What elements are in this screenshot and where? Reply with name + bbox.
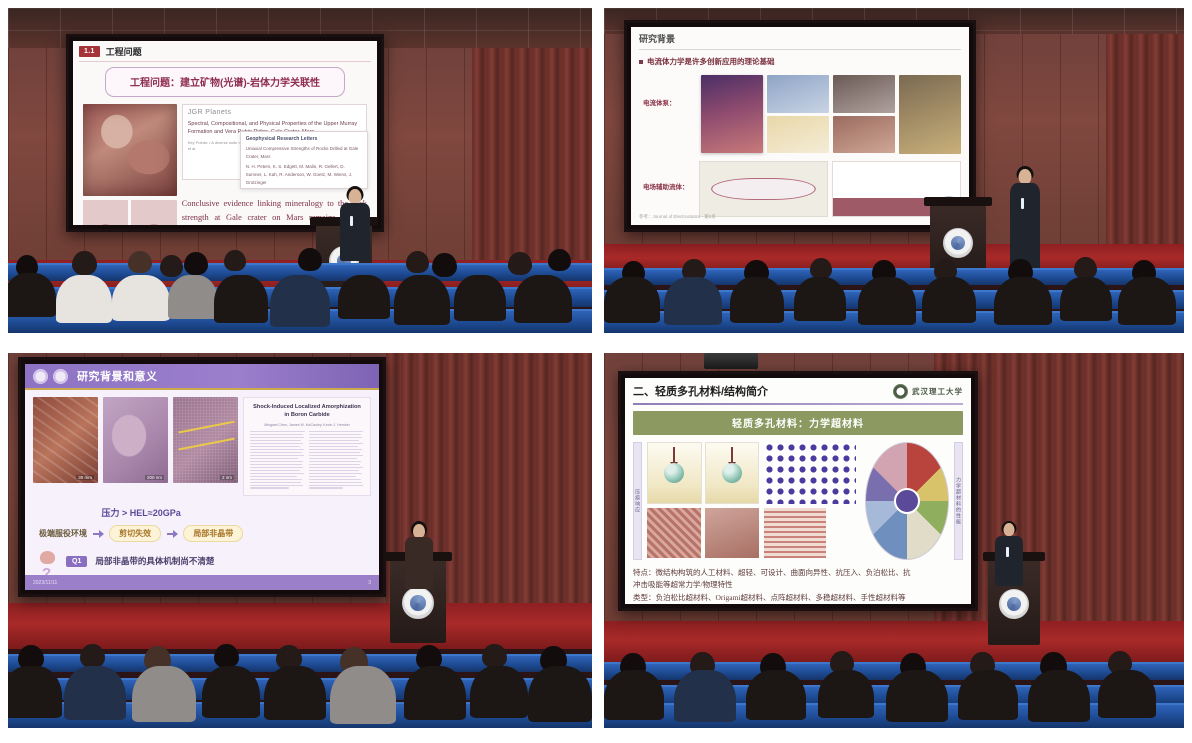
slide3-micrographs: 30 mm 200 nm 2 nm bbox=[33, 397, 238, 496]
bullet-square-icon bbox=[639, 60, 643, 64]
auditorium-scene: 研究背景 电流体力学是许多创新应用的理论基础 电流体泵： bbox=[604, 8, 1184, 333]
scale-bar-label: 30 mm bbox=[76, 475, 94, 480]
panel-top-left: 1.1 工程问题 工程问题：建立矿物(光谱)-岩体力学关联性 bbox=[0, 0, 592, 333]
audience-head bbox=[72, 251, 97, 275]
slide4-header: 二、轻质多孔材料/结构简介 武汉理工大学 bbox=[633, 383, 963, 399]
reference-paper-card: Shock-Induced Localized Amorphization in… bbox=[243, 397, 371, 496]
audience-body bbox=[264, 666, 326, 720]
audience-head bbox=[160, 255, 183, 277]
audience-body bbox=[730, 277, 784, 323]
slide2-title: 研究背景 bbox=[639, 32, 961, 45]
journal2-name: Geophysical Research Letters bbox=[246, 136, 362, 142]
audience bbox=[604, 636, 1184, 728]
university-name: 武汉理工大学 bbox=[912, 386, 963, 397]
slide4-divider bbox=[633, 403, 963, 405]
paper-card-grl: Geophysical Research Letters Uniaxial Co… bbox=[240, 131, 368, 189]
indenter-sphere bbox=[722, 463, 742, 483]
projection-screen: 研究背景和意义 30 mm 200 nm bbox=[18, 357, 386, 597]
flow-arrow-icon bbox=[167, 533, 177, 534]
audience bbox=[604, 247, 1184, 333]
paper-text-column bbox=[309, 431, 364, 491]
device-photo bbox=[767, 116, 829, 153]
ceiling-projector bbox=[704, 353, 758, 369]
presenter-torso bbox=[995, 536, 1023, 586]
audience-body bbox=[8, 666, 62, 718]
audience bbox=[8, 237, 592, 333]
slide4-lattice-column bbox=[764, 442, 856, 560]
audience-body bbox=[886, 670, 948, 722]
indenter-sphere bbox=[664, 463, 684, 483]
lattice-sample-photo bbox=[647, 508, 701, 558]
flow-node-3: 局部非晶带 bbox=[183, 525, 243, 542]
slide3-header: 研究背景和意义 bbox=[25, 364, 379, 390]
scale-bar-label: 2 nm bbox=[220, 475, 234, 480]
slide3-footer: 2023/11/11 3 bbox=[25, 575, 379, 590]
audience-body bbox=[514, 275, 572, 323]
micrograph-c: 2 nm bbox=[173, 397, 238, 483]
audience-body bbox=[330, 666, 396, 724]
presenter-torso bbox=[405, 537, 433, 589]
lab-logo-icon bbox=[53, 369, 68, 384]
slide2-photo-stack bbox=[833, 75, 895, 154]
slide-porous-materials: 二、轻质多孔材料/结构简介 武汉理工大学 轻质多孔材料：力学超材料 bbox=[625, 378, 971, 604]
audience-body bbox=[338, 275, 390, 319]
drill-hole-micrographs bbox=[83, 200, 177, 225]
origami-sample-photo bbox=[705, 508, 759, 558]
university-branding: 武汉理工大学 bbox=[893, 384, 963, 399]
slide4-banner: 轻质多孔材料：力学超材料 bbox=[633, 411, 963, 435]
slide2-bullet-text: 电流体力学是许多创新应用的理论基础 bbox=[647, 56, 775, 67]
slide3-title: 研究背景和意义 bbox=[77, 368, 158, 384]
panel-bottom-left: 研究背景和意义 30 mm 200 nm bbox=[0, 333, 592, 743]
audience-body bbox=[132, 666, 196, 722]
audience-body bbox=[168, 275, 218, 319]
scale-bar-label: 200 nm bbox=[145, 475, 164, 480]
presenter-head bbox=[1019, 169, 1032, 184]
flow-arrow-icon bbox=[93, 533, 103, 534]
slide1-image-column bbox=[83, 104, 177, 225]
audience-head bbox=[482, 644, 507, 668]
slide2-images-1 bbox=[701, 75, 961, 154]
audience-body bbox=[858, 277, 916, 325]
audience-body bbox=[674, 670, 736, 722]
audience bbox=[8, 624, 592, 728]
reference-paper-authors: Mingwei Chen, James W. McCauley, Kevin J… bbox=[250, 423, 364, 427]
question-tag: Q1 bbox=[66, 556, 87, 567]
audience-body bbox=[470, 666, 528, 718]
kirigami-sample-photo bbox=[764, 508, 826, 558]
indentation-negative bbox=[705, 442, 760, 504]
audience-body bbox=[394, 275, 450, 325]
amorphous-band-marker bbox=[179, 421, 236, 434]
audience-head bbox=[214, 644, 239, 668]
presenter bbox=[994, 521, 1024, 591]
audience-body bbox=[604, 670, 664, 720]
presenter-head bbox=[413, 524, 425, 538]
audience-body bbox=[922, 277, 976, 323]
micrograph-a: 30 mm bbox=[33, 397, 98, 483]
audience-body bbox=[818, 670, 874, 718]
slide4-side-label-left: 压痕响应 bbox=[633, 442, 642, 560]
slide3-body: 30 mm 200 nm 2 nm bbox=[25, 390, 379, 590]
slide2-footnote: 参考：Journal of Electrostatics · 第3页 bbox=[639, 214, 716, 220]
slide3-page-number: 3 bbox=[368, 580, 371, 586]
audience-head bbox=[508, 252, 532, 275]
experiment-photo bbox=[833, 75, 895, 113]
journal-name: JGR Planets bbox=[188, 109, 361, 116]
slide2-divider bbox=[639, 49, 961, 50]
audience-head bbox=[128, 251, 152, 273]
reentrant-lattice-diagram bbox=[764, 442, 856, 504]
slide4-title: 二、轻质多孔材料/结构简介 bbox=[633, 383, 768, 399]
load-arrow-icon bbox=[673, 447, 675, 463]
audience-body bbox=[1098, 670, 1156, 718]
amorphous-band-marker bbox=[179, 438, 236, 451]
slide-research-background: 研究背景 电流体力学是许多创新应用的理论基础 电流体泵： bbox=[631, 27, 969, 225]
slide2-row-label-1: 电流体泵： bbox=[643, 75, 695, 154]
slide1-headline: 工程问题：建立矿物(光谱)-岩体力学关联性 bbox=[130, 78, 320, 89]
audience-body bbox=[202, 666, 260, 718]
audience-body bbox=[604, 277, 660, 323]
slide3-equation: 压力 > HEL≈20GPa bbox=[33, 506, 249, 519]
slide1-body: JGR Planets Spectral, Compositional, and… bbox=[79, 104, 371, 225]
projection-screen: 1.1 工程问题 工程问题：建立矿物(光谱)-岩体力学关联性 bbox=[66, 34, 384, 232]
university-logo-icon bbox=[893, 384, 908, 399]
slide4-banner-text: 轻质多孔材料：力学超材料 bbox=[732, 419, 864, 430]
audience-head bbox=[432, 253, 457, 277]
material-sample-photos bbox=[647, 508, 759, 558]
audience-body bbox=[994, 277, 1052, 325]
slide2-row-1: 电流体泵： bbox=[639, 75, 961, 154]
slide2-photo-stack bbox=[899, 75, 961, 154]
university-logo-icon bbox=[33, 369, 48, 384]
audience-body bbox=[454, 275, 506, 321]
presenter-badge bbox=[1006, 547, 1009, 557]
projection-screen: 二、轻质多孔材料/结构简介 武汉理工大学 轻质多孔材料：力学超材料 bbox=[618, 371, 978, 611]
paper2-title: Uniaxial Compressive Strengths of Rocks … bbox=[246, 145, 362, 160]
panel-top-right: 研究背景 电流体力学是许多创新应用的理论基础 电流体泵： bbox=[592, 0, 1192, 333]
audience-body bbox=[270, 275, 330, 327]
reference-paper-columns bbox=[250, 431, 364, 491]
flow-node-1: 极端服役环境 bbox=[39, 528, 87, 539]
slide-research-background-significance: 研究背景和意义 30 mm 200 nm bbox=[25, 364, 379, 590]
photo-collage: 1.1 工程问题 工程问题：建立矿物(光谱)-岩体力学关联性 bbox=[0, 0, 1192, 743]
audience-head bbox=[224, 250, 246, 271]
slide1-headline-box: 工程问题：建立矿物(光谱)-岩体力学关联性 bbox=[105, 67, 344, 97]
slide2-photo-stack bbox=[767, 75, 829, 154]
presenter-head bbox=[349, 189, 362, 204]
reference-paper-title: Shock-Induced Localized Amorphization in… bbox=[250, 403, 364, 420]
indentation-positive bbox=[647, 442, 702, 504]
audience-body bbox=[794, 277, 846, 321]
audience-body bbox=[64, 666, 126, 720]
features-line-2: 冲击吸能等超常力学/物理特性 bbox=[633, 579, 963, 591]
audience-body bbox=[746, 670, 806, 720]
slide3-date: 2023/11/11 bbox=[33, 580, 57, 586]
journal-cover-image bbox=[701, 75, 763, 153]
audience-body bbox=[1118, 277, 1176, 325]
slide4-summary-text: 特点：微结构构筑的人工材料、超轻、可设计、曲面向异性、抗压入、负泊松比、抗 冲击… bbox=[633, 567, 963, 604]
audience-body bbox=[8, 273, 56, 317]
load-arrow-icon bbox=[731, 447, 733, 463]
question-row: Q1 局部非晶带的具体机制尚不清楚 bbox=[66, 555, 249, 567]
audience-body bbox=[1060, 277, 1112, 321]
indentation-diagrams bbox=[647, 442, 759, 504]
slide2-footer: 参考：Journal of Electrostatics · 第3页 bbox=[639, 196, 961, 220]
slide1-header: 1.1 工程问题 bbox=[79, 45, 371, 58]
audience-head bbox=[548, 249, 571, 271]
audience-body bbox=[56, 275, 112, 323]
flow-node-2: 剪切失效 bbox=[109, 525, 161, 542]
stage-curtain bbox=[1106, 34, 1184, 261]
audience-head bbox=[80, 644, 105, 668]
micrograph-b: 200 nm bbox=[103, 397, 168, 483]
presenter bbox=[404, 521, 434, 595]
slide1-section-number: 1.1 bbox=[79, 46, 100, 57]
audience-body bbox=[214, 275, 268, 323]
auditorium-scene: 1.1 工程问题 工程问题：建立矿物(光谱)-岩体力学关联性 bbox=[8, 8, 592, 333]
audience-head bbox=[406, 251, 429, 273]
audience-body bbox=[112, 275, 170, 321]
slide4-figure-column bbox=[647, 442, 759, 560]
types-line: 类型：负泊松比超材料、Origami超材料、点阵超材料、多稳超材料、手性超材料等 bbox=[633, 592, 963, 604]
audience-body bbox=[404, 666, 466, 720]
audience-body bbox=[528, 666, 592, 722]
presenter-badge bbox=[350, 216, 353, 226]
audience-head bbox=[810, 258, 832, 279]
presenter-head bbox=[1004, 523, 1015, 536]
slide1-divider bbox=[79, 61, 371, 62]
slide2-bullet: 电流体力学是许多创新应用的理论基础 bbox=[639, 56, 961, 67]
audience-body bbox=[664, 277, 722, 325]
slide-engineering-problem: 1.1 工程问题 工程问题：建立矿物(光谱)-岩体力学关联性 bbox=[73, 41, 377, 225]
paper-text-column bbox=[250, 431, 305, 491]
slide3-flow-diagram: 极端服役环境 剪切失效 局部非晶带 bbox=[33, 525, 249, 542]
slide1-section-title: 工程问题 bbox=[106, 45, 142, 58]
experiment-photo bbox=[833, 116, 895, 153]
application-wheel-chart bbox=[865, 442, 949, 560]
audience-body bbox=[958, 670, 1018, 720]
panel-bottom-right: 二、轻质多孔材料/结构简介 武汉理工大学 轻质多孔材料：力学超材料 bbox=[592, 333, 1192, 743]
paper2-meta: N. H. Peters, K. S. Edgett, M. Malin, R.… bbox=[246, 163, 362, 186]
device-photo bbox=[767, 75, 829, 113]
slide3-top-row: 30 mm 200 nm 2 nm bbox=[33, 397, 371, 496]
presenter-badge bbox=[1021, 198, 1024, 209]
audience-head bbox=[298, 248, 322, 271]
features-line-1: 特点：微结构构筑的人工材料、超轻、可设计、曲面向异性、抗压入、负泊松比、抗 bbox=[633, 567, 963, 579]
mars-surface-photo bbox=[83, 104, 177, 196]
audience-body bbox=[1028, 670, 1090, 722]
projection-screen: 研究背景 电流体力学是许多创新应用的理论基础 电流体泵： bbox=[624, 20, 976, 232]
auditorium-scene: 二、轻质多孔材料/结构简介 武汉理工大学 轻质多孔材料：力学超材料 bbox=[604, 353, 1184, 728]
slide4-figure-grid: 压痕响应 bbox=[633, 442, 963, 560]
question-text: 局部非晶带的具体机制尚不清楚 bbox=[95, 555, 214, 567]
podium-desktop bbox=[924, 197, 991, 206]
paper-card-jgr: JGR Planets Spectral, Compositional, and… bbox=[182, 104, 367, 180]
slide4-side-label-right: 力学超材料的性能 bbox=[954, 442, 963, 560]
auditorium-scene: 研究背景和意义 30 mm 200 nm bbox=[8, 353, 592, 728]
apparatus-photo bbox=[899, 75, 961, 154]
audience-head bbox=[1074, 257, 1097, 279]
podium-emblem-icon bbox=[999, 589, 1029, 619]
audience-head bbox=[184, 252, 208, 275]
